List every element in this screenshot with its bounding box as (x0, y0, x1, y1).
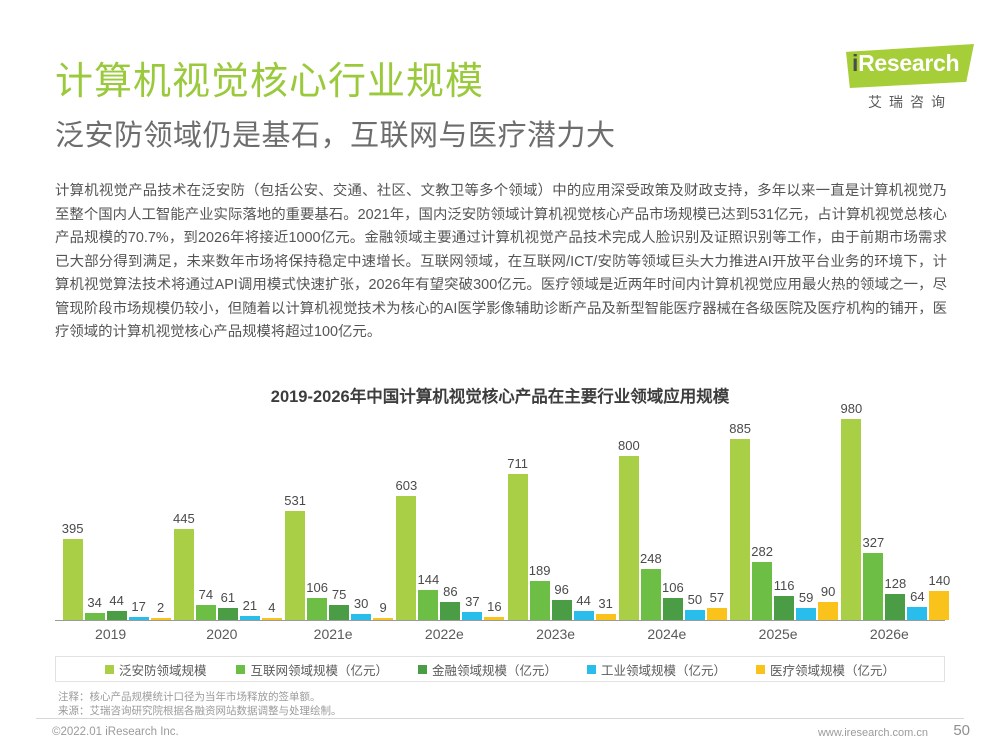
chart-bar (619, 456, 639, 620)
page-subtitle: 泛安防领域仍是基石，互联网与医疗潜力大 (55, 112, 616, 154)
chart-bar-value-label: 885 (716, 421, 764, 436)
legend-item[interactable]: 医疗领域规模（亿元） (756, 660, 895, 679)
legend-label: 医疗领域规模（亿元） (770, 660, 895, 679)
chart-bar-value-label: 248 (627, 551, 675, 566)
chart-bar-value-label: 980 (827, 401, 875, 416)
chart-bar-group: 603144863716 (389, 415, 500, 620)
chart-bar-value-label: 282 (738, 544, 786, 559)
chart-bar (174, 529, 194, 620)
chart-bar-value-label: 327 (849, 535, 897, 550)
chart-bar (508, 474, 528, 620)
chart-x-label: 2020 (167, 626, 277, 642)
body-paragraph: 计算机视觉产品技术在泛安防（包括公安、交通、社区、文教卫等多个领域）中的应用深受… (55, 180, 947, 345)
chart-x-label: 2025e (723, 626, 833, 642)
chart-x-label: 2019 (56, 626, 166, 642)
chart-bar-group: 3953444172 (55, 415, 166, 620)
legend-swatch-icon (418, 665, 427, 674)
iresearch-logo: iResearch 艾瑞咨询 (828, 38, 978, 118)
chart-bar-value-label: 189 (516, 563, 564, 578)
legend-item[interactable]: 互联网领域规模（亿元） (236, 660, 388, 679)
legend-swatch-icon (236, 665, 245, 674)
chart-x-tick-labels: 201920202021e2022e2023e2024e2025e2026e (55, 626, 945, 648)
chart-x-label: 2023e (501, 626, 611, 642)
chart-note: 注释：核心产品规模统计口径为当年市场释放的签单额。 (58, 690, 658, 704)
chart-bar-value-label: 800 (605, 438, 653, 453)
legend-swatch-icon (587, 665, 596, 674)
page-number: 50 (953, 722, 970, 739)
chart-bar (685, 610, 705, 620)
page-header: 计算机视觉核心行业规模 泛安防领域仍是基石，互联网与医疗潜力大 iResearc… (0, 0, 1000, 160)
chart-bar (907, 607, 927, 620)
legend-swatch-icon (105, 665, 114, 674)
chart-bar-value-label: 531 (271, 493, 319, 508)
legend-item[interactable]: 金融领域规模（亿元） (418, 660, 557, 679)
chart-x-label: 2021e (278, 626, 388, 642)
chart-bar-group: 53110675309 (278, 415, 389, 620)
legend-label: 金融领域规模（亿元） (432, 660, 557, 679)
chart-legend: 泛安防领域规模互联网领域规模（亿元）金融领域规模（亿元）工业领域规模（亿元）医疗… (55, 656, 945, 682)
chart-bar-group: 711189964431 (500, 415, 611, 620)
chart-x-label: 2026e (834, 626, 944, 642)
legend-item[interactable]: 泛安防领域规模 (105, 660, 207, 679)
legend-swatch-icon (756, 665, 765, 674)
chart-bar-group: 8002481065057 (611, 415, 722, 620)
chart-bar (196, 605, 216, 620)
copyright-text: ©2022.01 iResearch Inc. (52, 726, 179, 738)
legend-label: 互联网领域规模（亿元） (250, 660, 388, 679)
footer-url: www.iresearch.com.cn (818, 727, 928, 739)
footer-divider (36, 718, 964, 719)
logo-wordmark: iResearch (852, 50, 974, 77)
chart-bar (796, 608, 816, 620)
chart-bar-group: 8852821165990 (723, 415, 834, 620)
chart-bar-group: 4457461214 (166, 415, 277, 620)
chart-bar-value-label: 445 (160, 511, 208, 526)
chart-bar (85, 613, 105, 620)
chart-x-axis (55, 620, 945, 621)
chart-plot-area: 3953444172445746121453110675309603144863… (55, 415, 945, 620)
chart-bar (730, 439, 750, 620)
chart-bar (574, 611, 594, 620)
chart-bar (285, 511, 305, 620)
legend-item[interactable]: 工业领域规模（亿元） (587, 660, 726, 679)
logo-chinese-name: 艾瑞咨询 (854, 92, 966, 112)
chart-bar-value-label: 140 (915, 573, 963, 588)
legend-label: 泛安防领域规模 (119, 660, 207, 679)
chart-bar (841, 419, 861, 620)
chart-bar-value-label: 603 (382, 478, 430, 493)
chart-bar (396, 496, 416, 620)
chart-notes: 注释：核心产品规模统计口径为当年市场释放的签单额。 来源：艾瑞咨询研究院根据各融… (58, 690, 658, 718)
chart-bar-value-label: 395 (49, 521, 97, 536)
chart-bar (929, 591, 949, 620)
chart-bar-group: 98032712864140 (834, 415, 945, 620)
page-title: 计算机视觉核心行业规模 (55, 50, 484, 105)
chart-x-label: 2024e (612, 626, 722, 642)
chart-x-label: 2022e (389, 626, 499, 642)
chart-bar-value-label: 711 (494, 456, 542, 471)
logo-wordmark-rest: Research (858, 50, 959, 76)
chart-source: 来源：艾瑞咨询研究院根据各融资网站数据调整与处理绘制。 (58, 704, 658, 718)
legend-label: 工业领域规模（亿元） (601, 660, 726, 679)
